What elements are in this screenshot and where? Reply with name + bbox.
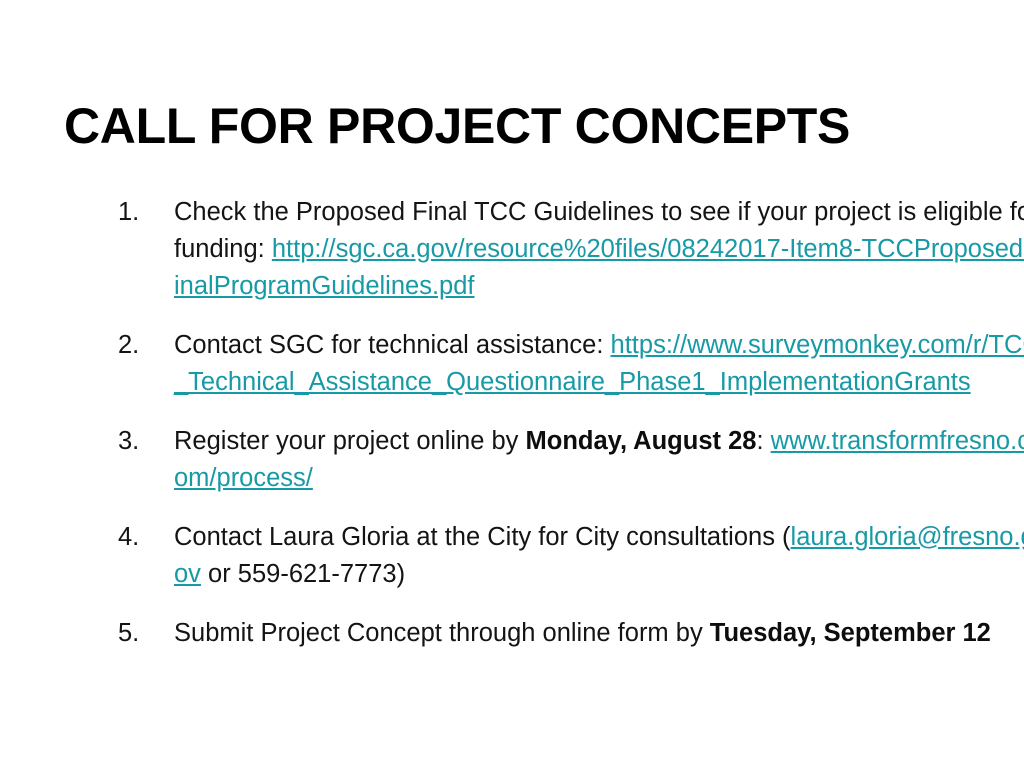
list-item: 1. Check the Proposed Final TCC Guidelin… — [118, 194, 1024, 305]
list-item-body: Register your project online by Monday, … — [174, 423, 1024, 497]
list-item-number: 2. — [118, 327, 174, 364]
list-item-number: 3. — [118, 423, 174, 460]
list-item-number: 5. — [118, 615, 174, 652]
guidelines-pdf-link[interactable]: http://sgc.ca.gov/resource%20files/08242… — [174, 235, 1024, 300]
list-item-body: Check the Proposed Final TCC Guidelines … — [174, 194, 1024, 305]
list-item-text: Contact Laura Gloria at the City for Cit… — [174, 523, 791, 551]
list-item: 2. Contact SGC for technical assistance:… — [118, 327, 1024, 401]
list-item-text: Submit Project Concept through online fo… — [174, 619, 710, 647]
deadline-date-september: Tuesday, September 12 — [710, 619, 991, 647]
list-item-number: 4. — [118, 519, 174, 556]
list-item-body: Contact Laura Gloria at the City for Cit… — [174, 519, 1024, 593]
list-item-body: Submit Project Concept through online fo… — [174, 615, 1024, 652]
list-item-text-after: or 559-621-7773) — [201, 560, 405, 588]
deadline-date-august: Monday, August 28 — [526, 427, 757, 455]
numbered-list: 1. Check the Proposed Final TCC Guidelin… — [78, 194, 1024, 652]
list-item-body: Contact SGC for technical assistance: ht… — [174, 327, 1024, 401]
list-item: 3. Register your project online by Monda… — [118, 423, 1024, 497]
list-item: 4. Contact Laura Gloria at the City for … — [118, 519, 1024, 593]
list-item-number: 1. — [118, 194, 174, 231]
list-item: 5. Submit Project Concept through online… — [118, 615, 1024, 652]
list-item-text: Register your project online by — [174, 427, 526, 455]
list-item-text: Contact SGC for technical assistance: — [174, 331, 611, 359]
list-item-text-mid: : — [756, 427, 770, 455]
page-title: CALL FOR PROJECT CONCEPTS — [64, 98, 964, 154]
presentation-slide: CALL FOR PROJECT CONCEPTS 1. Check the P… — [0, 0, 1024, 768]
